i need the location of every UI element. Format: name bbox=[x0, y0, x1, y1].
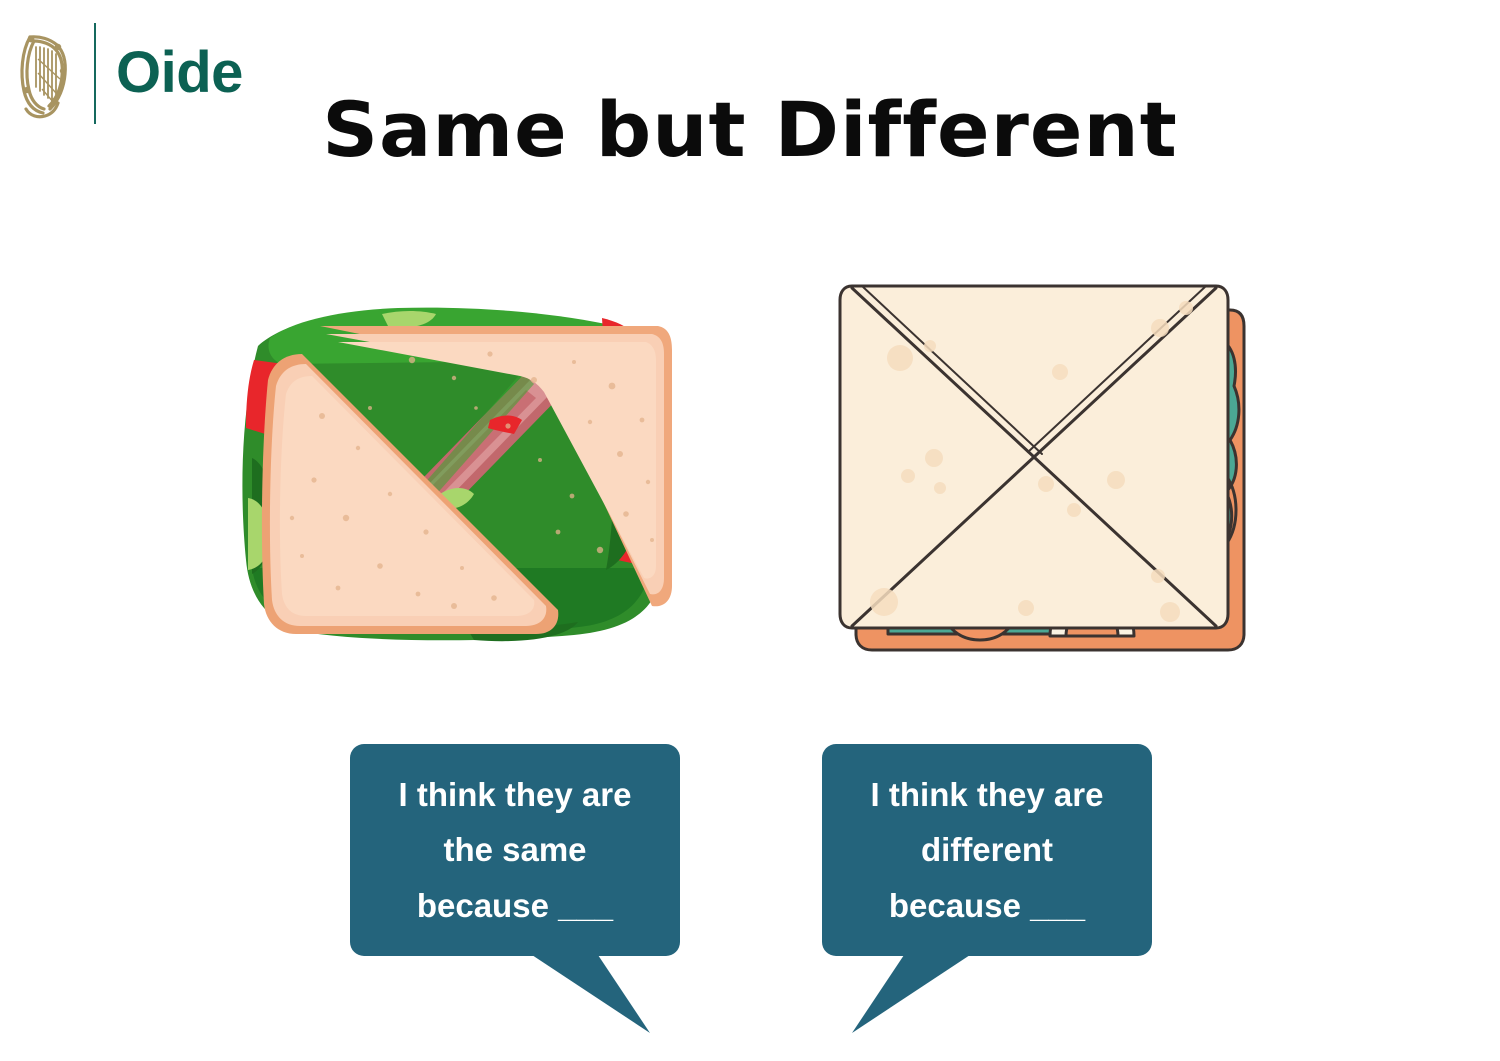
speech-bubble-different-body: I think they are different because ___ bbox=[822, 744, 1152, 956]
sandwich-cut-in-halves-image bbox=[222, 268, 692, 668]
speech-bubble-different-tail bbox=[840, 955, 970, 1035]
speech-bubble-same-text: I think they are the same because ___ bbox=[385, 767, 646, 933]
speech-bubble-same-tail bbox=[532, 955, 662, 1035]
page-title: Same but Different bbox=[0, 92, 1500, 168]
sandwich-cut-in-quarters-image bbox=[830, 262, 1250, 672]
speech-bubble-same[interactable]: I think they are the same because ___ bbox=[350, 744, 680, 956]
speech-bubble-different[interactable]: I think they are different because ___ bbox=[822, 744, 1152, 956]
speech-bubble-same-body: I think they are the same because ___ bbox=[350, 744, 680, 956]
speech-bubble-different-text: I think they are different because ___ bbox=[857, 767, 1118, 933]
